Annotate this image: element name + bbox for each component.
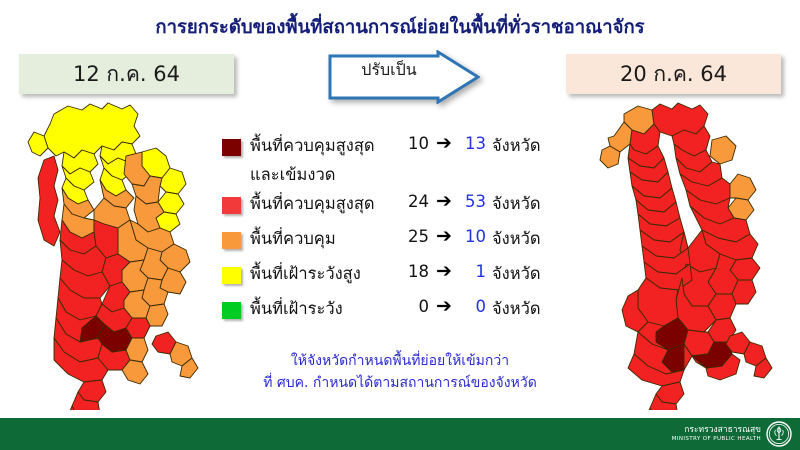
page-title: การยกระดับของพื้นที่สถานการณ์ย่อยในพื้นท… (0, 13, 800, 42)
legend-swatch (222, 267, 241, 284)
legend-label: พื้นที่เฝ้าระวังสูง (250, 261, 361, 287)
legend-swatch (222, 139, 241, 156)
legend-arrow-icon: ➔ (436, 225, 452, 247)
legend-swatch (222, 232, 241, 249)
ministry-brand: กระทรวงสาธารณสุข MINISTRY OF PUBLIC HEAL… (672, 418, 792, 450)
legend-count-after: 53 (460, 192, 486, 211)
legend-row: พื้นที่ควบคุม 25 ➔ 10 จังหวัด (220, 226, 580, 261)
legend-unit: จังหวัด (492, 261, 541, 287)
legend-unit: จังหวัด (492, 191, 541, 217)
legend-arrow-icon: ➔ (436, 132, 452, 154)
legend-label: พื้นที่ควบคุมสูงสุด (250, 133, 375, 159)
legend-row: พื้นที่ควบคุมสูงสุด และเข้มงวด 10 ➔ 13 จ… (220, 133, 580, 191)
legend-count-after: 13 (460, 134, 486, 153)
legend-unit: จังหวัด (492, 133, 541, 159)
footnote: ให้จังหวัดกำหนดพื้นที่ย่อยให้เข้มกว่า ที… (200, 350, 600, 394)
legend-count-after: 1 (460, 262, 486, 281)
thailand-map-before (10, 100, 210, 410)
legend-swatch (222, 197, 241, 214)
legend-swatch (222, 302, 241, 319)
footnote-line-1: ให้จังหวัดกำหนดพื้นที่ย่อยให้เข้มกว่า (200, 350, 600, 372)
legend-label-line2: และเข้มงวด (250, 162, 335, 188)
legend-row: พื้นที่เฝ้าระวังสูง 18 ➔ 1 จังหวัด (220, 261, 580, 296)
legend-count-before: 0 (395, 297, 429, 316)
ministry-of-public-health-seal-icon (766, 421, 792, 447)
date-banner-after: 20 ก.ค. 64 (566, 54, 781, 94)
date-banner-before: 12 ก.ค. 64 (19, 54, 234, 94)
legend-arrow-icon: ➔ (436, 260, 452, 282)
ministry-text: กระทรวงสาธารณสุข MINISTRY OF PUBLIC HEAL… (672, 426, 761, 442)
legend-row: พื้นที่เฝ้าระวัง 0 ➔ 0 จังหวัด (220, 296, 580, 331)
legend-count-before: 18 (395, 262, 429, 281)
legend-arrow-icon: ➔ (436, 190, 452, 212)
legend-unit: จังหวัด (492, 226, 541, 252)
legend-arrow-icon: ➔ (436, 295, 452, 317)
legend-row: พื้นที่ควบคุมสูงสุด 24 ➔ 53 จังหวัด (220, 191, 580, 226)
legend: พื้นที่ควบคุมสูงสุด และเข้มงวด 10 ➔ 13 จ… (220, 133, 580, 331)
legend-count-before: 24 (395, 192, 429, 211)
legend-count-before: 10 (395, 134, 429, 153)
transition-arrow-icon (328, 50, 480, 104)
legend-label: พื้นที่ควบคุมสูงสุด (250, 191, 375, 217)
legend-label: พื้นที่เฝ้าระวัง (250, 296, 343, 322)
footer-bar: กระทรวงสาธารณสุข MINISTRY OF PUBLIC HEAL… (0, 418, 800, 450)
legend-label: พื้นที่ควบคุม (250, 226, 336, 252)
ministry-name-en: MINISTRY OF PUBLIC HEALTH (672, 436, 761, 442)
thailand-map-after (580, 100, 780, 410)
legend-unit: จังหวัด (492, 296, 541, 322)
footnote-line-2: ที่ ศบค. กำหนดได้ตามสถานการณ์ของจังหวัด (200, 372, 600, 394)
legend-count-after: 0 (460, 297, 486, 316)
legend-count-after: 10 (460, 227, 486, 246)
ministry-name-th: กระทรวงสาธารณสุข (672, 426, 761, 436)
legend-count-before: 25 (395, 227, 429, 246)
